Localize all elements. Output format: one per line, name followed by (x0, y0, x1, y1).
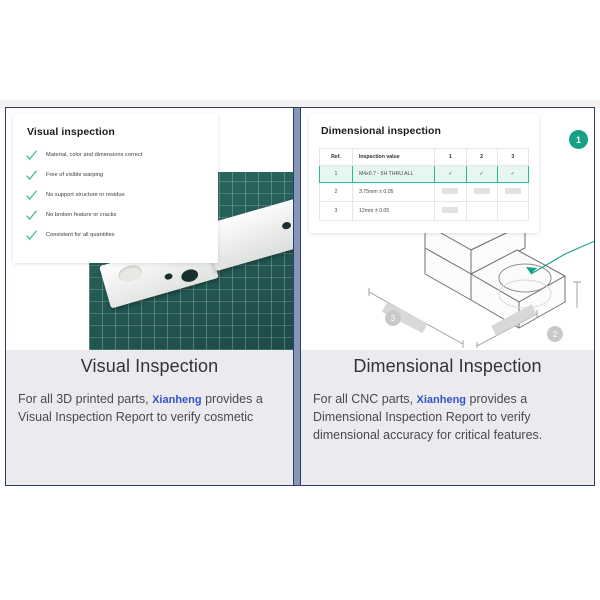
brand-name[interactable]: Xianheng (417, 394, 467, 406)
visual-caption-text: For all 3D printed parts, Xianheng provi… (18, 391, 281, 427)
check-label: No support structure or residue (46, 192, 125, 198)
th-ref: Ref. (320, 149, 353, 166)
dim-badge-2-text: 2 (553, 330, 558, 339)
dimensional-caption-text: For all CNC parts, Xianheng provides a D… (313, 391, 582, 444)
th-3: 3 (497, 149, 528, 166)
check-icon (25, 209, 38, 222)
panel-title: Dimensional inspection (321, 125, 529, 137)
th-1: 1 (435, 149, 466, 166)
check-label: Material, color and dimensions correct (46, 152, 142, 158)
dimensional-inspection-panel: Dimensional inspection Ref. Inspection v… (309, 114, 539, 233)
check-label: Consistent for all quantities (46, 232, 115, 238)
list-item: Free of visible warping (25, 169, 206, 182)
list-item: No broken feature or cracks (25, 209, 206, 222)
th-value: Inspection value (352, 149, 434, 166)
cell-check-3 (497, 202, 528, 221)
cell-value: 3.75mm ± 0.05 (352, 183, 434, 202)
cell-check-1 (435, 202, 466, 221)
check-icon (25, 169, 38, 182)
cell-check-1 (435, 183, 466, 202)
list-item: No support structure or residue (25, 189, 206, 202)
placeholder-chip (442, 207, 458, 213)
callout-badge-1[interactable]: 1 (569, 130, 588, 149)
visual-inspection-panel: Visual inspection Material, color and di… (13, 114, 218, 263)
cell-check-2 (466, 183, 497, 202)
table-header-row: Ref. Inspection value 1 2 3 (320, 149, 529, 166)
visual-inspection-media: Visual inspection Material, color and di… (6, 108, 293, 350)
check-icon (25, 149, 38, 162)
dimensional-inspection-media: 3 2 1 Dimensional inspection Ref. Inspec… (301, 108, 594, 350)
table-row[interactable]: 2 3.75mm ± 0.05 (320, 183, 529, 202)
cell-check-2 (466, 202, 497, 221)
cell-check-3: ✓ (497, 166, 528, 183)
cell-check-3 (497, 183, 528, 202)
placeholder-chip (474, 188, 490, 194)
dim-badge-3-text: 3 (391, 314, 396, 323)
page-title: Visual Inspection (18, 356, 281, 377)
check-label: Free of visible warping (46, 172, 103, 178)
panel-title: Visual inspection (27, 126, 206, 138)
cell-check-1: ✓ (435, 166, 466, 183)
dimensional-caption: Dimensional Inspection For all CNC parts… (301, 350, 594, 485)
visual-caption: Visual Inspection For all 3D printed par… (6, 350, 293, 485)
check-icon (25, 189, 38, 202)
page-title: Dimensional Inspection (313, 356, 582, 377)
placeholder-chip (442, 188, 458, 194)
cell-ref: 3 (320, 202, 353, 221)
dimensional-inspection-card[interactable]: 3 2 1 Dimensional inspection Ref. Inspec… (300, 107, 595, 486)
th-2: 2 (466, 149, 497, 166)
visual-check-list: Material, color and dimensions correct F… (25, 149, 206, 242)
comparison-cards: Visual inspection Material, color and di… (5, 107, 595, 486)
check-icon (25, 229, 38, 242)
check-label: No broken feature or cracks (46, 212, 116, 218)
placeholder-chip (505, 188, 521, 194)
cell-check-2: ✓ (466, 166, 497, 183)
page-root: Visual inspection Material, color and di… (0, 0, 600, 600)
visual-inspection-card[interactable]: Visual inspection Material, color and di… (5, 107, 294, 486)
cell-value: 12mm ± 0.05 (352, 202, 434, 221)
brand-name[interactable]: Xianheng (152, 394, 202, 406)
caption-pre: For all CNC parts, (313, 392, 413, 406)
cell-ref: 1 (320, 166, 353, 183)
dimensional-table: Ref. Inspection value 1 2 3 1 M4x0.7 - 5… (319, 148, 529, 221)
list-item: Material, color and dimensions correct (25, 149, 206, 162)
cell-ref: 2 (320, 183, 353, 202)
cell-value: M4x0.7 - 5H THRU ALL (352, 166, 434, 183)
table-row[interactable]: 3 12mm ± 0.05 (320, 202, 529, 221)
table-row[interactable]: 1 M4x0.7 - 5H THRU ALL ✓ ✓ ✓ (320, 166, 529, 183)
caption-pre: For all 3D printed parts, (18, 392, 149, 406)
list-item: Consistent for all quantities (25, 229, 206, 242)
